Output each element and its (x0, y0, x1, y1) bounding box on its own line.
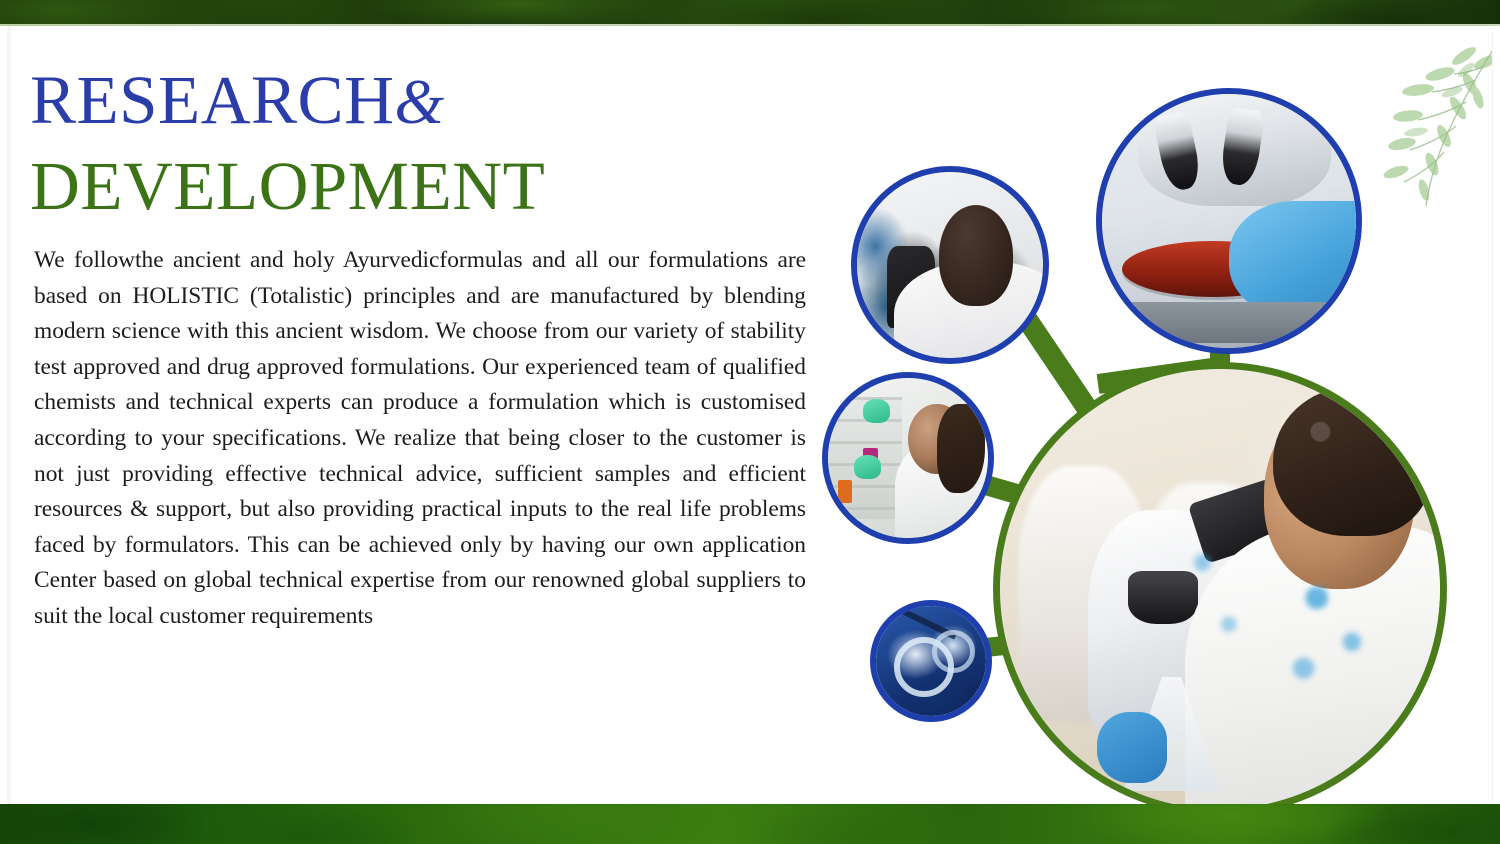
photo-chemist-pipetting[interactable] (822, 372, 994, 544)
page-title-line-2: DEVELOPMENT (30, 144, 810, 230)
photo-microscope-petri-dish[interactable] (1096, 88, 1362, 354)
page-title-ampersand: & (394, 66, 444, 137)
page-title-line-1: RESEARCH (30, 62, 394, 138)
photo-cluster (808, 52, 1492, 804)
photo-researcher-at-microscope-image (857, 172, 1043, 358)
photo-chemist-pipetting-image (828, 378, 988, 538)
photo-scientist-main-image (1000, 369, 1440, 804)
photo-researcher-at-microscope[interactable] (851, 166, 1049, 364)
slide-content-card: RESEARCH& DEVELOPMENT We followthe ancie… (8, 26, 1492, 804)
page-title: RESEARCH& DEVELOPMENT (30, 58, 810, 229)
body-paragraph: We followthe ancient and holy Ayurvedicf… (34, 243, 806, 635)
photo-microscope-petri-dish-image (1102, 94, 1356, 348)
foliage-strip-bottom (0, 804, 1500, 844)
photo-scientist-main[interactable] (993, 362, 1447, 804)
photo-lab-glassware-image (876, 606, 986, 716)
card-left-edge (8, 26, 13, 804)
foliage-strip-top (0, 0, 1500, 26)
slide-research-and-development: RESEARCH& DEVELOPMENT We followthe ancie… (0, 0, 1500, 844)
text-column: RESEARCH& DEVELOPMENT We followthe ancie… (30, 58, 810, 635)
photo-lab-glassware[interactable] (870, 600, 992, 722)
